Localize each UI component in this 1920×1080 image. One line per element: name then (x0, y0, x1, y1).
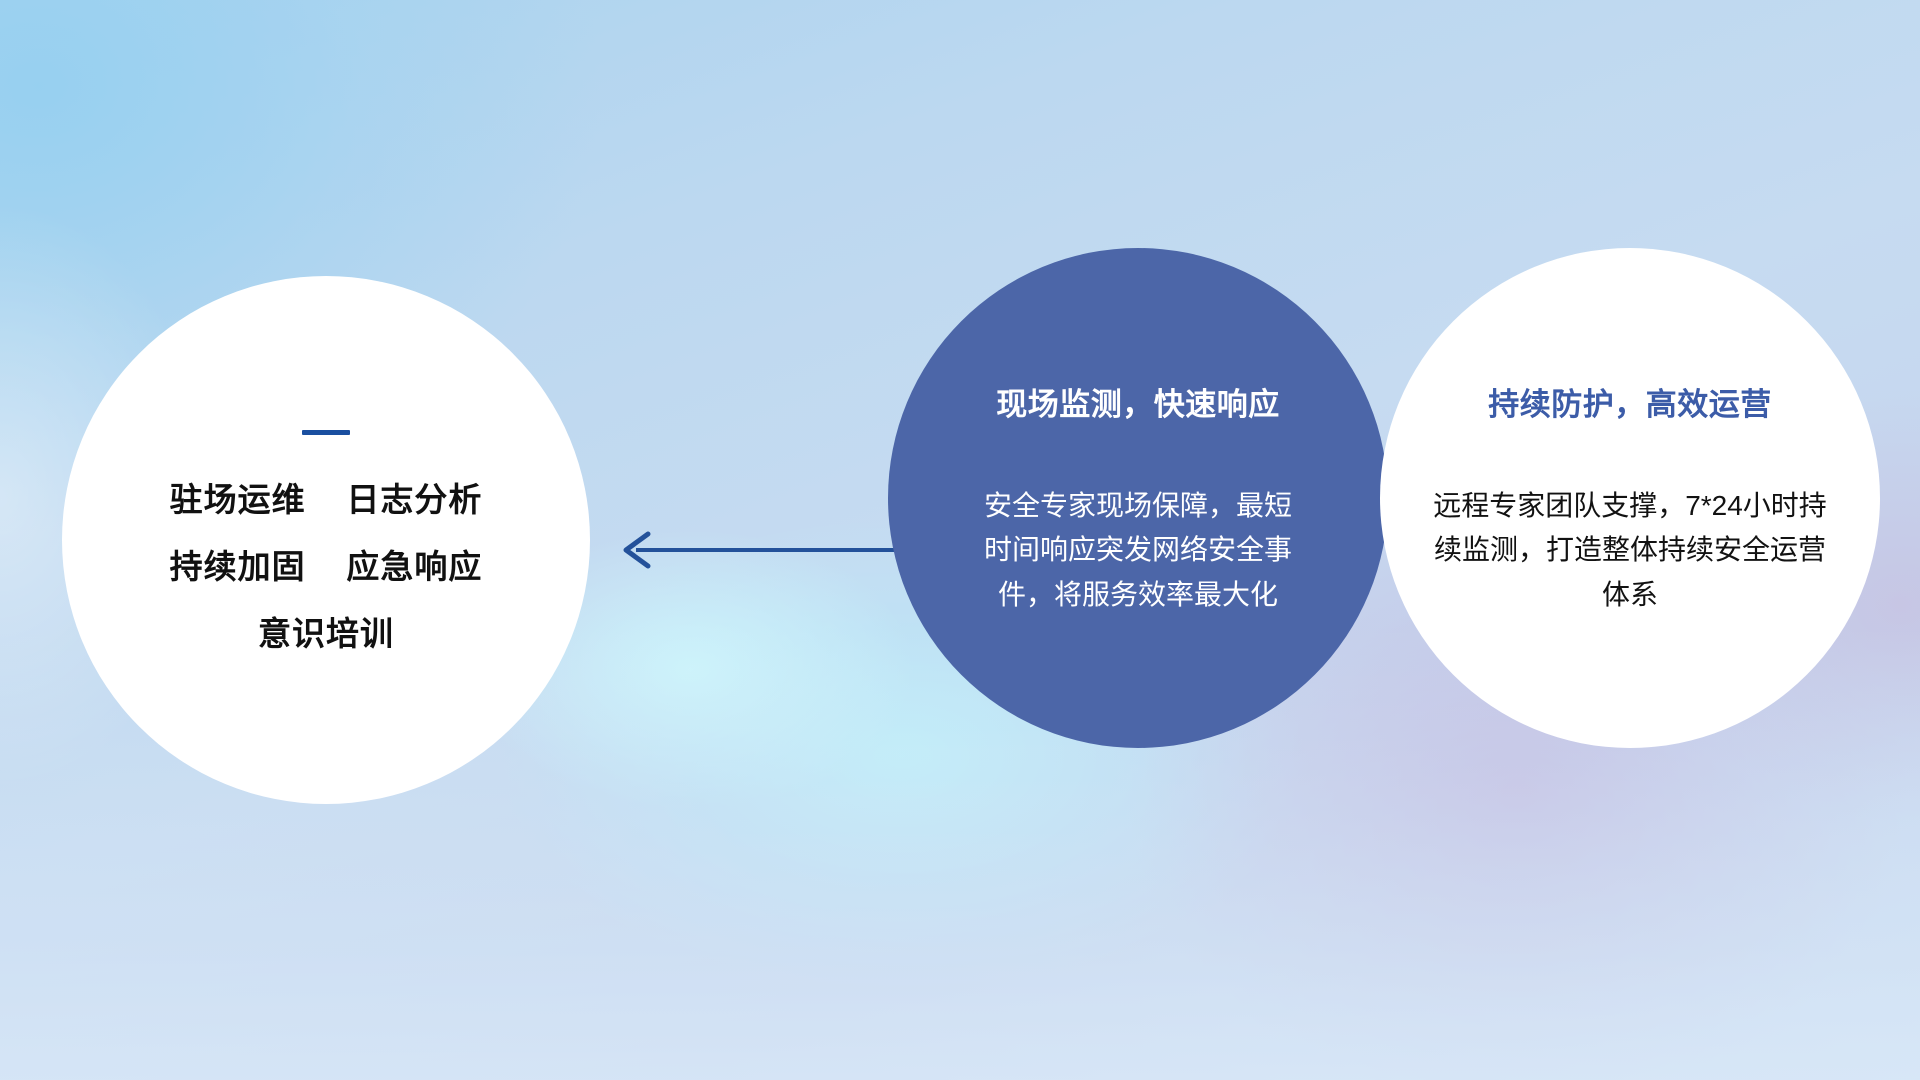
arrow-left-icon (600, 510, 900, 590)
divider-dash-icon (302, 430, 350, 435)
capability-line-3: 意识培训 (258, 617, 394, 650)
capability-line-2: 持续加固 应急响应 (170, 550, 483, 583)
continuous-protection-body: 远程专家团队支撑，7*24小时持续监测，打造整体持续安全运营体系 (1430, 484, 1830, 617)
capability-line-1: 驻场运维 日志分析 (170, 483, 483, 516)
onsite-monitoring-body: 安全专家现场保障，最短时间响应突发网络安全事件，将服务效率最大化 (973, 484, 1303, 617)
continuous-protection-title: 持续防护，高效运营 (1488, 379, 1772, 424)
slide-canvas: 驻场运维 日志分析 持续加固 应急响应 意识培训 现场监测，快速响应 安全专家现… (0, 0, 1920, 1080)
onsite-monitoring-title: 现场监测，快速响应 (996, 379, 1280, 424)
feature-circle-onsite-monitoring[interactable]: 现场监测，快速响应 安全专家现场保障，最短时间响应突发网络安全事件，将服务效率最… (888, 248, 1388, 748)
capability-circle-left[interactable]: 驻场运维 日志分析 持续加固 应急响应 意识培训 (62, 276, 590, 804)
feature-circle-continuous-protection[interactable]: 持续防护，高效运营 远程专家团队支撑，7*24小时持续监测，打造整体持续安全运营… (1380, 248, 1880, 748)
